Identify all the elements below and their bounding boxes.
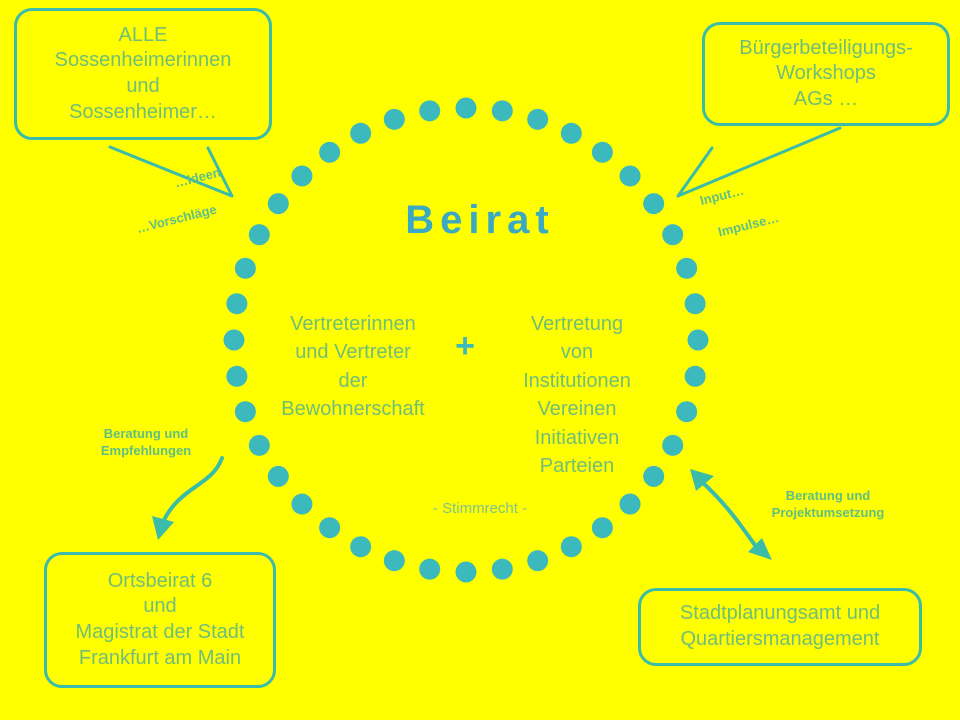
center-column-left: Vertreterinnenund VertreterderBewohnersc… [258, 310, 448, 424]
ring-dot [527, 109, 548, 130]
ring-dot [688, 330, 709, 351]
box-ortsbeirat-text: Ortsbeirat 6undMagistrat der StadtFrankf… [47, 569, 273, 671]
annotation-ideen-line1: …Ideen [173, 164, 223, 192]
annotation-beratung-empfehlungen: Beratung undEmpfehlungen [84, 425, 208, 460]
annotation-input: Input… Impulse… [694, 159, 785, 261]
arrowhead-down-right [748, 538, 772, 560]
bubble-citizens-text: ALLESossenheimerinnenundSossenheimer… [17, 23, 269, 125]
ring-dot [226, 293, 247, 314]
ring-dot [492, 100, 513, 121]
ring-dot [249, 435, 270, 456]
box-ortsbeirat[interactable]: Ortsbeirat 6undMagistrat der StadtFrankf… [44, 552, 276, 688]
arrowhead-up-left [690, 469, 714, 491]
ring-dot [350, 123, 371, 144]
arrowhead-down-left [152, 516, 174, 540]
ring-dot [319, 517, 340, 538]
ring-dot [350, 536, 371, 557]
annotation-input-line2: Impulse… [716, 209, 780, 241]
ring-dot [676, 258, 697, 279]
ring-dot [685, 366, 706, 387]
ring-dot [561, 536, 582, 557]
ring-dot [226, 366, 247, 387]
ring-dot [268, 466, 289, 487]
annotation-ideen-line2: …Vorschläge [135, 198, 231, 238]
ring-dot [291, 165, 312, 186]
ring-dot [456, 98, 477, 119]
ring-dot [419, 100, 440, 121]
annotation-beratung-projektumsetzung: Beratung undProjektumsetzung [748, 487, 908, 522]
ring-dot [527, 550, 548, 571]
center-column-right: VertretungvonInstitutionenVereinenInitia… [482, 310, 672, 480]
ring-dot [235, 258, 256, 279]
diagram-canvas: ALLESossenheimerinnenundSossenheimer… Bü… [0, 0, 960, 720]
ring-dot [685, 293, 706, 314]
ring-dot [492, 559, 513, 580]
ring-dot [319, 142, 340, 163]
ring-dot [592, 517, 613, 538]
ring-dot [592, 142, 613, 163]
annotation-input-line1: Input… [698, 175, 772, 209]
bubble-workshops[interactable]: Bürgerbeteiligungs-WorkshopsAGs … [702, 22, 950, 126]
ring-dot [384, 550, 405, 571]
box-stadtplanung[interactable]: Stadtplanungsamt undQuartiersmanagement [638, 588, 922, 666]
box-stadtplanung-text: Stadtplanungsamt undQuartiersmanagement [641, 601, 919, 652]
ring-dot [676, 401, 697, 422]
ring-dot [235, 401, 256, 422]
ring-dot [384, 109, 405, 130]
bubble-workshops-text: Bürgerbeteiligungs-WorkshopsAGs … [705, 36, 947, 113]
ring-dot [620, 165, 641, 186]
ring-dot [456, 562, 477, 583]
ring-dot [561, 123, 582, 144]
ring-dot [419, 559, 440, 580]
ring-dot [224, 330, 245, 351]
bubble-citizens[interactable]: ALLESossenheimerinnenundSossenheimer… [14, 8, 272, 140]
